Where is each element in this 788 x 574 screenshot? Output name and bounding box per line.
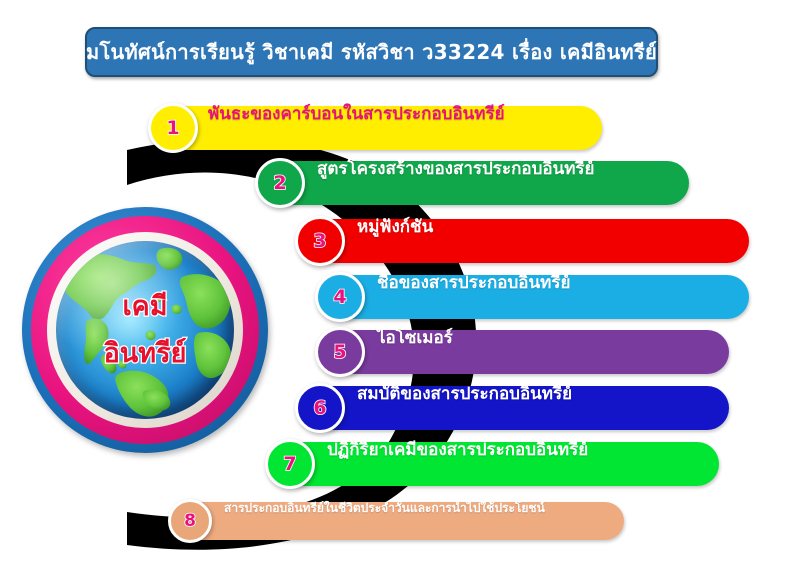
page-title: มโนทัศน์การเรียนรู้ วิชาเคมี รหัสวิชา ว3… [86,42,657,62]
topic-label: สารประกอบอินทรีย์ในชีวิตประจำวันและการนำ… [224,502,545,514]
topic-number: 1 [166,119,179,138]
topic-label: สมบัติของสารประกอบอินทรีย์ [357,386,572,403]
topic-number-badge[interactable]: 5 [315,327,365,377]
topic-row[interactable]: สมบัติของสารประกอบอินทรีย์6 [295,386,729,430]
topic-row[interactable]: สารประกอบอินทรีย์ในชีวิตประจำวันและการนำ… [168,502,624,540]
topic-number: 4 [333,288,346,307]
topic-number-badge[interactable]: 8 [168,499,212,543]
topic-row[interactable]: ไอโซเมอร์5 [315,330,729,374]
globe-continents [56,241,234,419]
topic-row[interactable]: พันธะของคาร์บอนในสารประกอบอินทรีย์1 [148,106,602,150]
topic-row[interactable]: ปฏิกิริยาเคมีของสารประกอบอินทรีย์7 [265,442,719,486]
topic-number-badge[interactable]: 1 [148,103,198,153]
topic-row[interactable]: ชื่อของสารประกอบอินทรีย์4 [315,275,749,319]
topic-label: ปฏิกิริยาเคมีของสารประกอบอินทรีย์ [327,442,588,459]
topic-number-badge[interactable]: 2 [255,158,305,208]
topic-row[interactable]: สูตรโครงสร้างของสารประกอบอินทรีย์2 [255,161,689,205]
topic-number-badge[interactable]: 7 [265,439,315,489]
topic-number: 5 [333,343,346,362]
page-title-banner: มโนทัศน์การเรียนรู้ วิชาเคมี รหัสวิชา ว3… [85,27,658,77]
topic-label: พันธะของคาร์บอนในสารประกอบอินทรีย์ [208,106,505,123]
topic-number-badge[interactable]: 3 [295,216,345,266]
topic-number-badge[interactable]: 6 [295,383,345,433]
topic-number: 3 [313,232,326,251]
topic-row[interactable]: หมู่ฟังก์ชัน3 [295,219,749,263]
topic-number: 8 [184,513,196,530]
infographic-canvas: มโนทัศน์การเรียนรู้ วิชาเคมี รหัสวิชา ว3… [0,0,788,574]
topic-label: ชื่อของสารประกอบอินทรีย์ [377,275,570,292]
topic-number: 2 [273,174,286,193]
topic-label: หมู่ฟังก์ชัน [357,219,433,236]
topic-number: 6 [313,399,326,418]
topic-number: 7 [283,455,296,474]
globe-icon: เคมี อินทรีย์ [56,241,234,419]
topic-label: สูตรโครงสร้างของสารประกอบอินทรีย์ [317,161,595,178]
topic-label: ไอโซเมอร์ [377,330,453,347]
globe-badge: เคมี อินทรีย์ [22,207,268,453]
topic-number-badge[interactable]: 4 [315,272,365,322]
